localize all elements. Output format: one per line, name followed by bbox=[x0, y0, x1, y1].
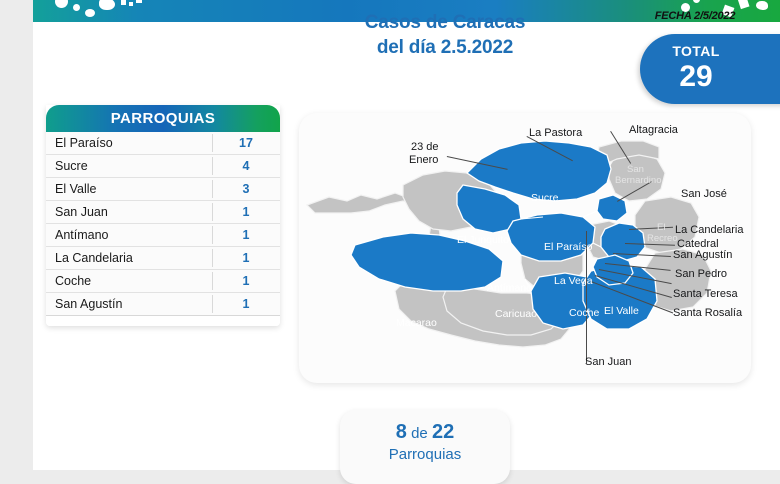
table-row[interactable]: El Paraíso17 bbox=[46, 132, 280, 155]
leader-line bbox=[610, 131, 631, 164]
summary-connector: de bbox=[407, 425, 432, 442]
table-cell-parroquia: El Paraíso bbox=[55, 132, 113, 154]
title-line-2: del día 2.5.2022 bbox=[300, 35, 590, 60]
map-inline-label-coche: Coche bbox=[569, 307, 599, 320]
summary-count: 8 bbox=[396, 421, 407, 443]
map-label-23-de-enero-line1: 23 de bbox=[411, 141, 439, 154]
table-cell-parroquia: San Agustín bbox=[55, 293, 122, 315]
table-cell-count: 1 bbox=[212, 247, 280, 269]
table-cell-parroquia: El Valle bbox=[55, 178, 96, 200]
summary-total: 22 bbox=[432, 421, 454, 443]
map-inline-label-recreo: Recreo bbox=[647, 232, 678, 245]
leader-line bbox=[613, 253, 671, 257]
banner-blob-icon bbox=[756, 1, 768, 10]
map-inline-label-sucre: Sucre bbox=[531, 192, 558, 205]
map-label-san-juan: San Juan bbox=[585, 356, 631, 369]
table-cell-parroquia: Antímano bbox=[55, 224, 109, 246]
map-label-la-candelaria: La Candelaria bbox=[675, 224, 744, 237]
table-body: El Paraíso17Sucre4El Valle3San Juan1Antí… bbox=[46, 132, 280, 316]
page-title: Casos de Caracas del día 2.5.2022 bbox=[300, 10, 590, 60]
map-label-23-de-enero-line2: Enero bbox=[409, 154, 438, 167]
total-value: 29 bbox=[640, 61, 752, 93]
map-inline-label-bernardino: Bernardino bbox=[615, 174, 661, 187]
table-cell-count: 17 bbox=[212, 132, 280, 154]
table-cell-parroquia: San Juan bbox=[55, 201, 108, 223]
map-inline-label-macarao: Macarao bbox=[396, 317, 437, 330]
banner-notch-icon bbox=[738, 0, 750, 9]
table-cell-parroquia: La Candelaria bbox=[55, 247, 133, 269]
map-label-san-agustin: San Agustín bbox=[673, 249, 732, 262]
banner-blob-icon bbox=[99, 0, 115, 10]
table-row[interactable]: Sucre4 bbox=[46, 155, 280, 178]
table-row[interactable]: San Juan1 bbox=[46, 201, 280, 224]
banner-blob-icon bbox=[693, 0, 700, 3]
map-label-san-jose: San José bbox=[681, 188, 727, 201]
map-inline-label-la-vega: La Vega bbox=[554, 275, 593, 288]
table-cell-count: 3 bbox=[212, 178, 280, 200]
map-label-santa-teresa: Santa Teresa bbox=[673, 288, 738, 301]
table-row[interactable]: Antímano1 bbox=[46, 224, 280, 247]
table-row[interactable]: El Valle3 bbox=[46, 178, 280, 201]
leader-line bbox=[447, 156, 508, 170]
map-inline-label-el-valle: El Valle bbox=[604, 305, 639, 318]
leader-line bbox=[605, 263, 671, 271]
leader-line bbox=[629, 227, 673, 230]
banner-notch-icon bbox=[136, 0, 142, 3]
table-row[interactable]: Coche1 bbox=[46, 270, 280, 293]
banner-notch-icon bbox=[129, 2, 133, 6]
table-cell-count: 1 bbox=[212, 270, 280, 292]
table-cell-count: 1 bbox=[212, 201, 280, 223]
table-footer-strip bbox=[46, 316, 280, 326]
map-inline-label-el-junquito: El Junquito bbox=[457, 234, 509, 247]
table-row[interactable]: San Agustín1 bbox=[46, 293, 280, 316]
table-cell-parroquia: Sucre bbox=[55, 155, 88, 177]
map-label-san-pedro: San Pedro bbox=[675, 268, 727, 281]
map-inline-label-antimano: Antímano bbox=[487, 282, 532, 295]
status-badge: TOTAL 29 bbox=[640, 34, 780, 104]
banner-notch-icon bbox=[121, 0, 126, 5]
table-row[interactable]: La Candelaria1 bbox=[46, 247, 280, 270]
title-line-1: Casos de Caracas bbox=[300, 10, 590, 35]
map-inline-label-el-paraiso: El Paraíso bbox=[544, 241, 592, 254]
parroquias-summary-pill: 8 de 22 Parroquias bbox=[340, 410, 510, 484]
banner-blob-icon bbox=[55, 0, 68, 8]
table-cell-count: 1 bbox=[212, 293, 280, 315]
map-label-santa-rosalia: Santa Rosalía bbox=[673, 307, 742, 320]
date-label: FECHA 2/5/2022 bbox=[620, 10, 770, 22]
total-badge-wrapper: TOTAL 29 bbox=[640, 34, 780, 104]
summary-fraction: 8 de 22 bbox=[340, 421, 510, 445]
leader-line bbox=[599, 269, 672, 284]
map-inline-label-caricuao: Caricuao bbox=[495, 308, 537, 321]
left-margin bbox=[0, 0, 33, 470]
table-cell-parroquia: Coche bbox=[55, 270, 91, 292]
total-label: TOTAL bbox=[640, 43, 752, 59]
parroquias-table-card: PARROQUIAS El Paraíso17Sucre4El Valle3Sa… bbox=[46, 105, 280, 326]
banner-blob-icon bbox=[85, 9, 95, 17]
summary-label: Parroquias bbox=[340, 446, 510, 463]
table-header: PARROQUIAS bbox=[46, 105, 280, 132]
map-label-altagracia: Altagracia bbox=[629, 124, 678, 137]
banner-blob-icon bbox=[73, 4, 80, 11]
map-label-la-pastora: La Pastora bbox=[529, 127, 582, 140]
table-cell-count: 4 bbox=[212, 155, 280, 177]
infographic-page: Casos de Caracas del día 2.5.2022 FECHA … bbox=[0, 0, 780, 470]
table-cell-count: 1 bbox=[212, 224, 280, 246]
map-label-layer: La Pastora Altagracia 23 de Enero San Jo… bbox=[299, 113, 780, 383]
